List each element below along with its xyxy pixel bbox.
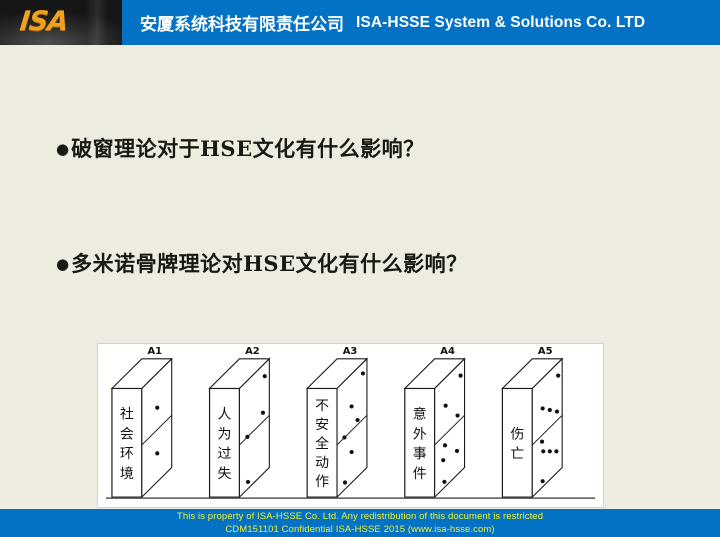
bullet-marker-icon: ● — [56, 142, 69, 157]
bullet-item-1: ● 破窗理论对于HSE文化有什么影响？ — [56, 133, 425, 163]
domino-dot-A5-6 — [541, 449, 545, 453]
domino-dot-A1-2 — [155, 451, 159, 455]
domino-dot-A5-9 — [541, 479, 545, 483]
domino-id-A1: A1 — [147, 346, 162, 357]
bullet-item-2: ● 多米诺骨牌理论对HSE文化有什么影响？ — [56, 248, 468, 278]
domino-front-face-A5 — [502, 388, 532, 497]
domino-dot-A4-3 — [455, 413, 459, 417]
domino-A3: 不安全动作A3 — [307, 346, 367, 497]
domino-label-char-A3-2: 安 — [315, 417, 329, 433]
header-title-english: ISA-HSSE System & Solutions Co. LTD — [356, 14, 645, 32]
domino-dot-A3-3 — [342, 435, 346, 439]
domino-dot-A2-2 — [245, 435, 249, 439]
domino-dot-A5-2 — [541, 406, 545, 410]
domino-dot-A2-3 — [261, 411, 265, 415]
domino-dot-A4-1 — [458, 374, 462, 378]
domino-label-char-A4-4: 件 — [413, 466, 427, 482]
domino-label-char-A4-3: 事 — [413, 446, 427, 462]
header-title-bar: 安厦系统科技有限责任公司 ISA-HSSE System & Solutions… — [122, 0, 720, 45]
slide: ISA 安厦系统科技有限责任公司 ISA-HSSE System & Solut… — [0, 0, 720, 537]
domino-label-char-A3-5: 作 — [315, 474, 329, 490]
domino-theory-figure: 社会环境A1人为过失A2不安全动作A3意外事件A4伤亡A5 — [97, 343, 604, 508]
domino-dot-A3-1 — [361, 371, 365, 375]
domino-label-char-A5-1: 伤 — [510, 426, 524, 442]
domino-label-char-A3-3: 全 — [315, 435, 329, 452]
domino-dot-A5-4 — [555, 409, 559, 413]
isa-logo: ISA — [19, 8, 69, 36]
domino-A4: 意外事件A4 — [405, 346, 465, 497]
domino-label-char-A2-1: 人 — [218, 407, 232, 423]
domino-dot-A4-2 — [444, 404, 448, 408]
domino-label-char-A3-1: 不 — [315, 398, 329, 414]
domino-label-char-A3-4: 动 — [315, 455, 329, 471]
domino-dot-A4-7 — [442, 480, 446, 484]
domino-label-char-A4-2: 外 — [413, 426, 427, 442]
bullet-text-1: 破窗理论对于HSE文化有什么影响？ — [71, 133, 425, 163]
domino-id-A2: A2 — [245, 346, 260, 357]
domino-dot-A5-8 — [554, 449, 558, 453]
domino-dot-A1-1 — [155, 406, 159, 410]
domino-label-char-A1-1: 社 — [120, 407, 134, 423]
domino-label-char-A2-3: 过 — [218, 446, 232, 462]
logo-panel: ISA — [0, 0, 122, 45]
domino-dot-A3-2 — [350, 404, 354, 408]
domino-A2: 人为过失A2 — [210, 346, 270, 497]
domino-label-char-A1-4: 境 — [120, 466, 134, 482]
domino-dot-A3-6 — [343, 480, 347, 484]
domino-dot-A5-7 — [548, 449, 552, 453]
domino-dot-A2-1 — [263, 374, 267, 378]
footer-line-1: This is property of ISA-HSSE Co. Ltd. An… — [177, 510, 543, 523]
domino-label-char-A2-2: 为 — [218, 426, 232, 442]
bullet-text-2: 多米诺骨牌理论对HSE文化有什么影响？ — [71, 248, 468, 278]
domino-dot-A2-4 — [246, 480, 250, 484]
domino-label-char-A1-2: 会 — [120, 426, 134, 442]
domino-label-char-A1-3: 环 — [120, 446, 134, 462]
bullet-marker-icon: ● — [56, 257, 69, 272]
domino-dot-A4-5 — [441, 458, 445, 462]
domino-dot-A4-4 — [443, 443, 447, 447]
domino-id-A5: A5 — [538, 346, 553, 357]
slide-footer: This is property of ISA-HSSE Co. Ltd. An… — [0, 509, 720, 537]
slide-header: ISA 安厦系统科技有限责任公司 ISA-HSSE System & Solut… — [0, 0, 720, 45]
domino-id-A3: A3 — [343, 346, 358, 357]
header-title-chinese: 安厦系统科技有限责任公司 — [140, 10, 344, 35]
domino-diagram-svg: 社会环境A1人为过失A2不安全动作A3意外事件A4伤亡A5 — [98, 344, 603, 507]
domino-dot-A5-5 — [540, 440, 544, 444]
domino-id-A4: A4 — [440, 346, 455, 357]
domino-label-char-A2-4: 失 — [218, 466, 232, 482]
domino-dot-A3-5 — [350, 450, 354, 454]
domino-dot-A5-1 — [556, 374, 560, 378]
footer-line-2: CDM151101 Confidential ISA-HSSE 2015 (ww… — [225, 523, 494, 536]
domino-dot-A4-6 — [455, 449, 459, 453]
domino-label-char-A4-1: 意 — [413, 406, 427, 423]
domino-dot-A3-4 — [355, 418, 359, 422]
slide-content: ● 破窗理论对于HSE文化有什么影响？ ● 多米诺骨牌理论对HSE文化有什么影响… — [0, 45, 720, 509]
domino-A5: 伤亡A5 — [502, 346, 562, 497]
domino-dot-A5-3 — [548, 408, 552, 412]
domino-A1: 社会环境A1 — [112, 346, 172, 497]
domino-label-char-A5-2: 亡 — [510, 446, 524, 462]
